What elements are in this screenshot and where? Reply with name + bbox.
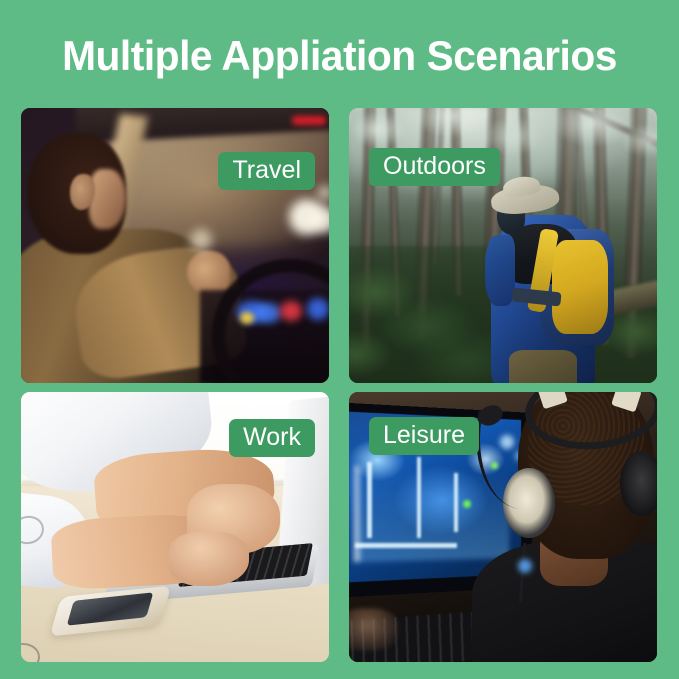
scenario-badge-travel: Travel — [218, 152, 315, 190]
poster-root: Multiple Appliation Scenarios — [0, 0, 679, 679]
brake-light — [292, 116, 326, 125]
hiker-arm — [485, 235, 516, 307]
scenario-card-leisure[interactable]: Leisure — [349, 392, 657, 662]
page-title: Multiple Appliation Scenarios — [10, 30, 669, 82]
scenario-badge-leisure: Leisure — [369, 417, 479, 455]
dashboard-light-yellow — [240, 312, 254, 324]
screen-detail — [355, 543, 457, 548]
typing-hand-left — [169, 532, 249, 586]
screen-green-dot — [463, 500, 471, 508]
dashboard-light-blue-3 — [307, 298, 329, 320]
driver-cheek — [89, 169, 126, 230]
screen-detail — [454, 473, 458, 532]
hiker-pants — [509, 350, 577, 383]
dashboard-light-red — [280, 301, 302, 321]
bokeh-light — [190, 229, 212, 251]
scenario-card-travel[interactable]: Travel — [21, 108, 329, 383]
travel-photo — [21, 108, 329, 383]
screen-detail — [368, 462, 373, 538]
scenario-grid: Travel — [21, 108, 657, 662]
scenario-badge-outdoors: Outdoors — [369, 148, 500, 186]
headset-earcup-far — [620, 451, 657, 516]
scenario-card-work[interactable]: Work — [21, 392, 329, 662]
gamer-hand — [349, 608, 398, 651]
scenario-badge-work: Work — [229, 419, 315, 457]
backpack-yellow-panel — [552, 240, 607, 334]
bokeh-light — [317, 185, 329, 201]
screen-detail — [417, 457, 421, 538]
scenario-card-outdoors[interactable]: Outdoors — [349, 108, 657, 383]
driver-hand — [187, 251, 230, 295]
